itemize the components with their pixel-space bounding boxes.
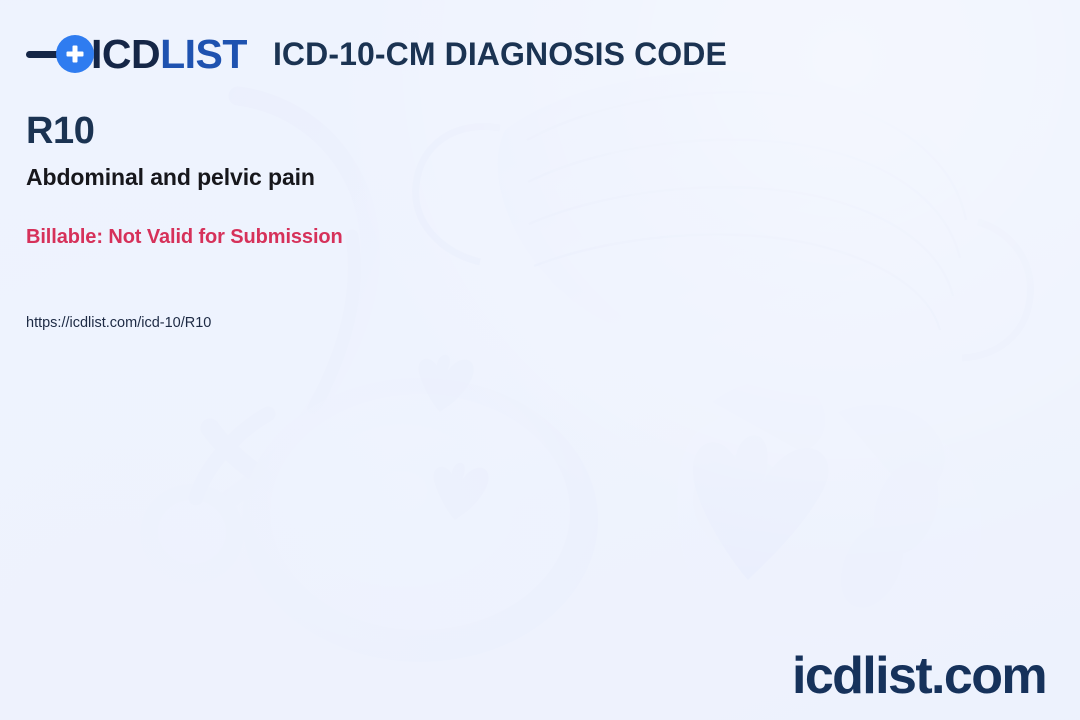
icdlist-logo[interactable]: ICDLIST — [26, 34, 247, 75]
logo-wordmark: ICDLIST — [91, 34, 247, 75]
background-photo — [0, 0, 1080, 720]
diagnosis-description: Abdominal and pelvic pain — [26, 163, 666, 192]
page-header: ICDLIST ICD-10-CM DIAGNOSIS CODE — [26, 26, 1054, 82]
logo-word-primary: ICD — [91, 31, 160, 77]
logo-word-secondary: LIST — [160, 31, 247, 77]
medical-plus-icon — [56, 35, 94, 73]
footer-brand: icdlist.com — [792, 650, 1046, 702]
page-title: ICD-10-CM DIAGNOSIS CODE — [273, 38, 727, 70]
icd-code-card: ICDLIST ICD-10-CM DIAGNOSIS CODE R10 Abd… — [0, 0, 1080, 720]
billable-status-badge: Billable: Not Valid for Submission — [26, 225, 666, 249]
code-details: R10 Abdominal and pelvic pain Billable: … — [26, 112, 666, 332]
diagnosis-code: R10 — [26, 112, 666, 152]
source-url[interactable]: https://icdlist.com/icd-10/R10 — [26, 315, 666, 332]
